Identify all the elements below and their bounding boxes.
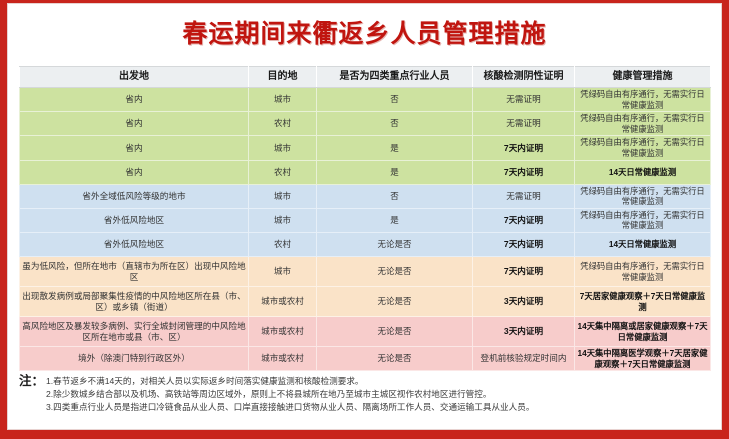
poster-inner-frame <box>7 3 722 430</box>
poster-root: 春运期间来衢返乡人员管理措施 出发地 目的地 是否为四类重点行业人员 核酸检测阴… <box>0 0 729 439</box>
